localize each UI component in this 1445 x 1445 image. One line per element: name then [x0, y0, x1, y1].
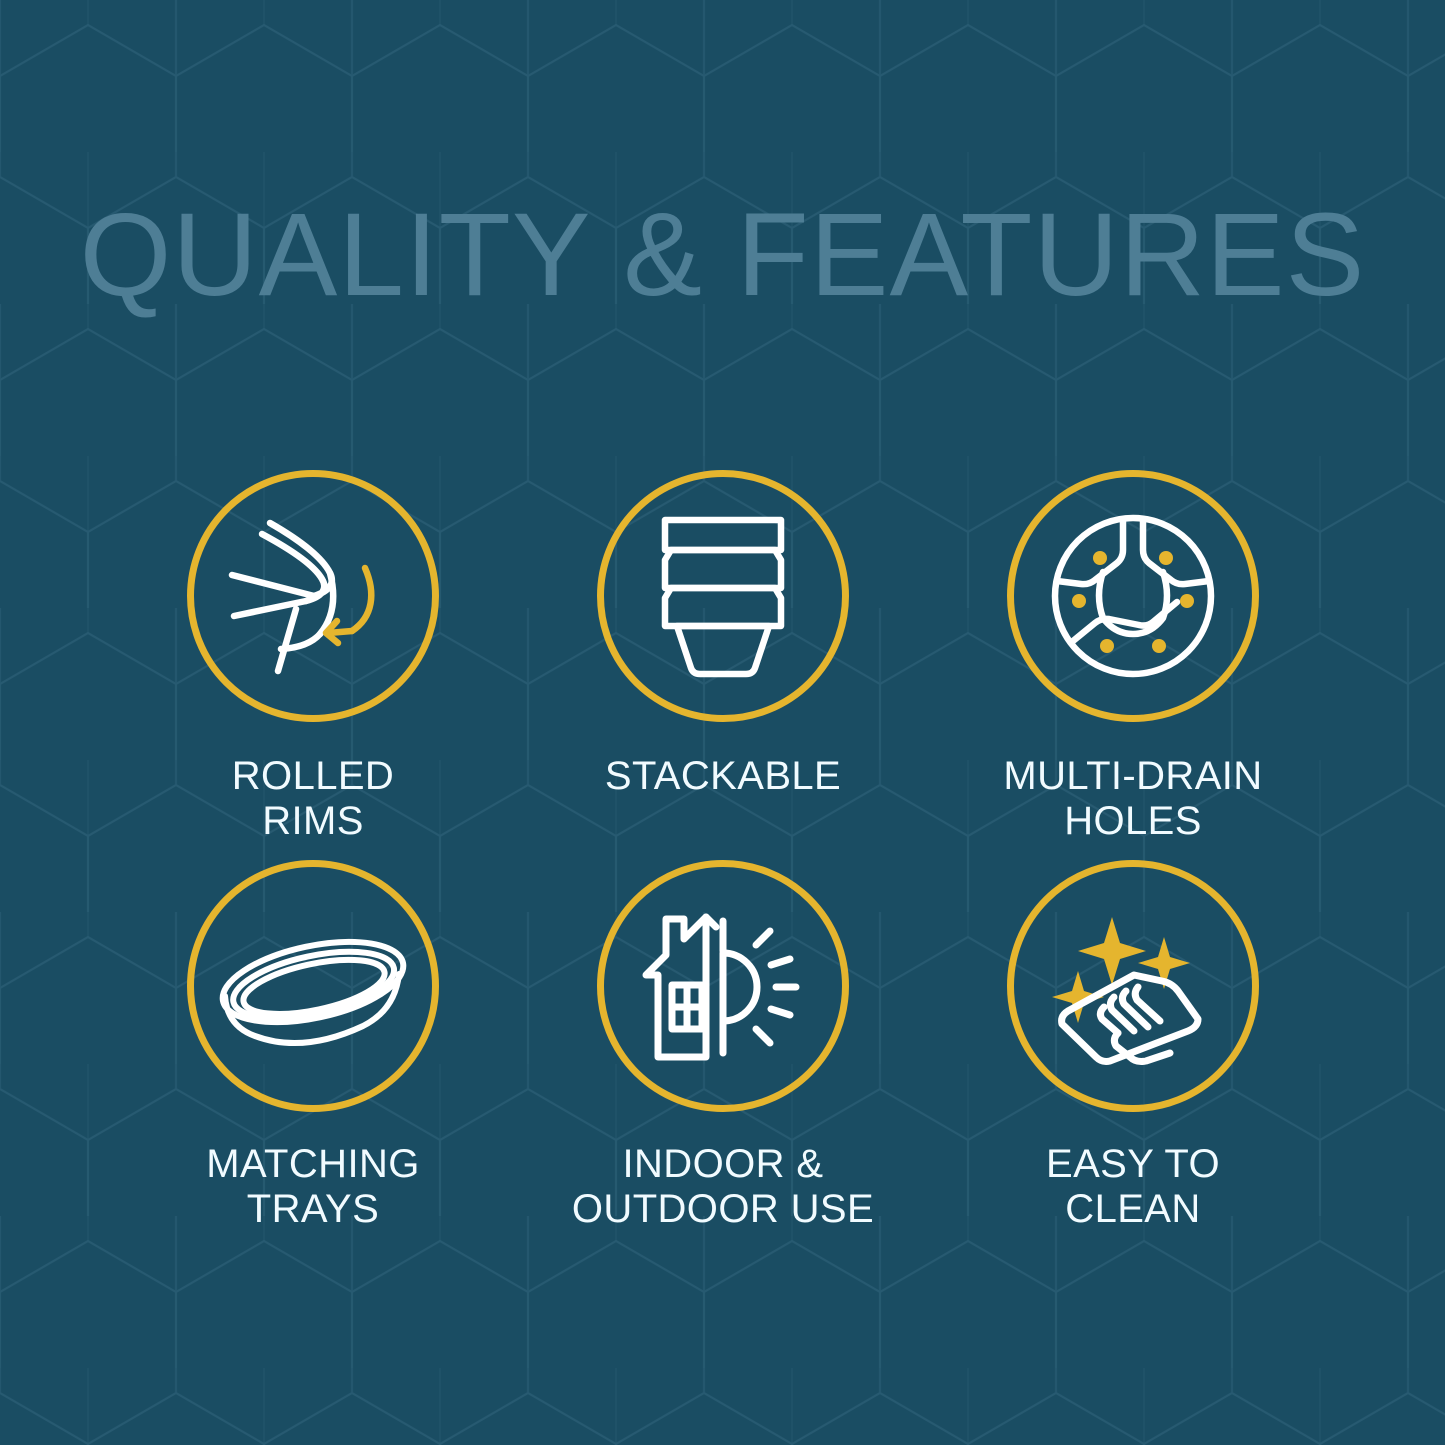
feature-item-multi-drain-holes[interactable]: MULTI-DRAIN HOLES: [928, 470, 1338, 860]
stacked-pots-icon: [633, 506, 813, 686]
page-title: QUALITY & FEATURES: [0, 196, 1445, 314]
feature-grid: ROLLED RIMS STACKABL: [108, 470, 1338, 1250]
drain-holes-ring-icon: [1043, 506, 1223, 686]
feature-label-matching-trays: MATCHING TRAYS: [206, 1142, 420, 1232]
feature-label-rolled-rims: ROLLED RIMS: [232, 754, 394, 844]
icon-circle-stackable: [597, 470, 849, 722]
quality-features-infographic: QUALITY & FEATURES: [0, 0, 1445, 1445]
icon-circle-multi-drain-holes: [1007, 470, 1259, 722]
feature-item-indoor-outdoor-use[interactable]: INDOOR & OUTDOOR USE: [518, 860, 928, 1250]
feature-label-multi-drain-holes: MULTI-DRAIN HOLES: [1003, 754, 1262, 844]
wiping-hand-sparkle-icon: [1038, 891, 1228, 1081]
house-and-sun-icon: [628, 891, 818, 1081]
rolled-rim-icon: [218, 501, 408, 691]
icon-circle-easy-to-clean: [1007, 860, 1259, 1112]
icon-circle-matching-trays: [187, 860, 439, 1112]
icon-circle-indoor-outdoor-use: [597, 860, 849, 1112]
icon-circle-rolled-rims: [187, 470, 439, 722]
oval-tray-icon: [213, 886, 413, 1086]
feature-item-rolled-rims[interactable]: ROLLED RIMS: [108, 470, 518, 860]
sun-rays-icon: [756, 931, 796, 1043]
feature-item-easy-to-clean[interactable]: EASY TO CLEAN: [928, 860, 1338, 1250]
feature-label-stackable: STACKABLE: [605, 754, 841, 799]
feature-label-easy-to-clean: EASY TO CLEAN: [1046, 1142, 1220, 1232]
feature-item-stackable[interactable]: STACKABLE: [518, 470, 928, 860]
feature-item-matching-trays[interactable]: MATCHING TRAYS: [108, 860, 518, 1250]
feature-label-indoor-outdoor-use: INDOOR & OUTDOOR USE: [572, 1142, 874, 1232]
